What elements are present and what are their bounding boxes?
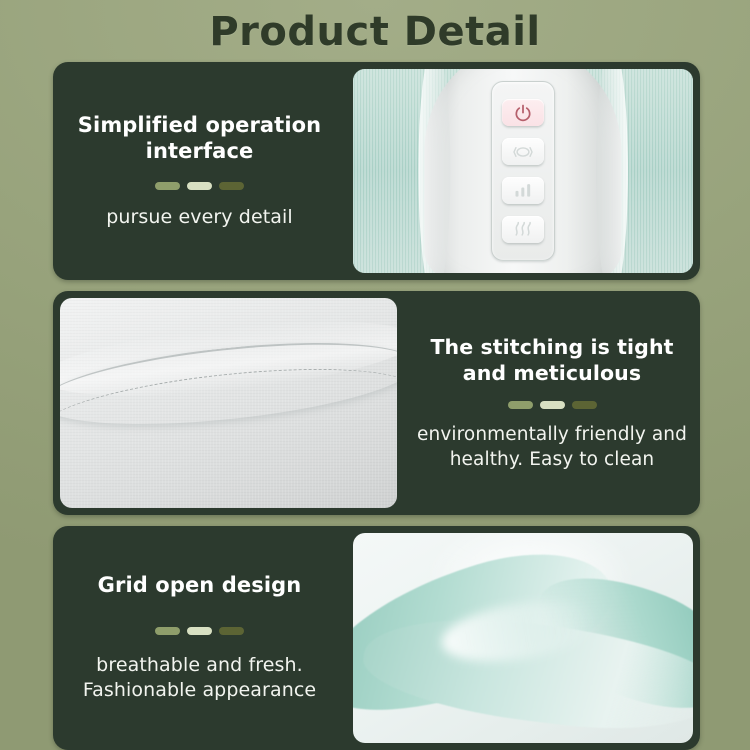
stitched-seam-photo — [60, 298, 397, 508]
card-headline: Grid open design — [98, 572, 302, 599]
feature-card-simplified-operation[interactable]: Simplified operation interface pursue ev… — [53, 62, 700, 280]
card-headline: The stitching is tight and meticulous — [414, 334, 690, 386]
divider-dash-3 — [572, 401, 597, 409]
control-panel-photo — [353, 69, 693, 273]
power-icon — [513, 103, 533, 123]
page-title-bar: Product Detail — [0, 0, 750, 60]
divider-dash-3 — [219, 627, 244, 635]
card-image-column — [346, 526, 700, 750]
divider-dashes — [155, 182, 244, 190]
divider-dash-2 — [187, 627, 212, 635]
intensity-level-icon — [513, 181, 533, 199]
divider-dash-3 — [219, 182, 244, 190]
divider-dash-1 — [155, 182, 180, 190]
feature-card-stitching[interactable]: The stitching is tight and meticulous en… — [53, 291, 700, 515]
card-text-column: The stitching is tight and meticulous en… — [404, 291, 700, 515]
feature-card-list: Simplified operation interface pursue ev… — [53, 62, 700, 750]
card-text-column: Grid open design breathable and fresh. F… — [53, 526, 346, 750]
feature-card-grid-open-design[interactable]: Grid open design breathable and fresh. F… — [53, 526, 700, 750]
button-tray — [491, 81, 555, 261]
divider-dash-2 — [540, 401, 565, 409]
mint-silk-fabric-photo — [353, 533, 693, 743]
card-subline: pursue every detail — [106, 205, 293, 231]
card-headline: Simplified operation interface — [63, 112, 336, 165]
massage-mode-button[interactable] — [502, 138, 544, 165]
page-title: Product Detail — [209, 9, 540, 55]
divider-dash-2 — [187, 182, 212, 190]
divider-dashes — [155, 627, 244, 635]
power-button[interactable] — [502, 99, 544, 126]
divider-dashes — [508, 401, 597, 409]
card-image-column — [346, 62, 700, 280]
card-subline: environmentally friendly and healthy. Ea… — [414, 423, 690, 473]
heat-icon — [512, 220, 534, 238]
product-detail-page: Product Detail Simplified operation inte… — [0, 0, 750, 750]
heat-button[interactable] — [502, 216, 544, 243]
massage-mode-icon — [512, 143, 534, 161]
card-text-column: Simplified operation interface pursue ev… — [53, 62, 346, 280]
divider-dash-1 — [155, 627, 180, 635]
divider-dash-1 — [508, 401, 533, 409]
card-subline: breathable and fresh. Fashionable appear… — [63, 653, 336, 704]
intensity-level-button[interactable] — [502, 177, 544, 204]
card-image-column — [53, 291, 404, 515]
